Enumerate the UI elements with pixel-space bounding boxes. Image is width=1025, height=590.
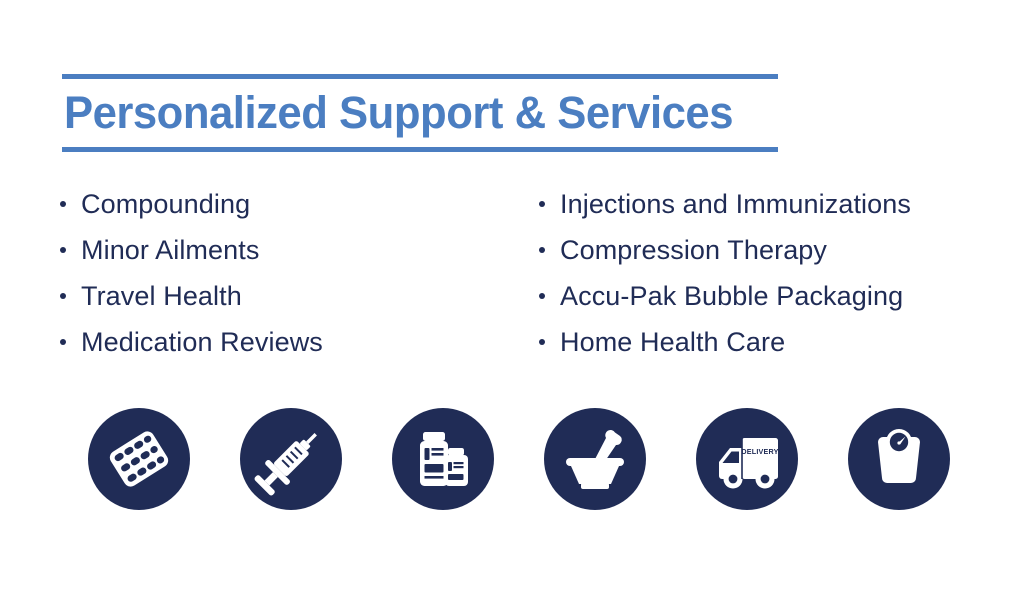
- service-icon-row: DELIVERY: [0, 408, 1025, 512]
- list-item[interactable]: Travel Health: [58, 273, 528, 319]
- bullet-dot-icon: [60, 247, 66, 253]
- list-item-label: Injections and Immunizations: [560, 189, 911, 219]
- services-columns: Compounding Minor Ailments Travel Health…: [0, 181, 1025, 366]
- services-right-column: Injections and Immunizations Compression…: [537, 181, 1025, 365]
- list-item-label: Medication Reviews: [81, 327, 323, 357]
- page-title: Personalized Support & Services: [62, 79, 757, 147]
- list-item-label: Home Health Care: [560, 327, 785, 357]
- services-left-list: Compounding Minor Ailments Travel Health…: [58, 181, 528, 365]
- title-rule-bottom: [62, 147, 778, 152]
- bullet-dot-icon: [60, 339, 66, 345]
- list-item[interactable]: Minor Ailments: [58, 227, 528, 273]
- list-item[interactable]: Compression Therapy: [537, 227, 1025, 273]
- list-item[interactable]: Compounding: [58, 181, 528, 227]
- list-item[interactable]: Home Health Care: [537, 319, 1025, 365]
- services-right-list: Injections and Immunizations Compression…: [537, 181, 1025, 365]
- list-item-label: Travel Health: [81, 281, 242, 311]
- list-item-label: Accu-Pak Bubble Packaging: [560, 281, 903, 311]
- list-item-label: Compression Therapy: [560, 235, 827, 265]
- list-item-label: Minor Ailments: [81, 235, 259, 265]
- bullet-dot-icon: [60, 293, 66, 299]
- list-item[interactable]: Accu-Pak Bubble Packaging: [537, 273, 1025, 319]
- delivery-van-label: DELIVERY: [741, 447, 778, 456]
- bullet-dot-icon: [539, 293, 545, 299]
- services-left-column: Compounding Minor Ailments Travel Health…: [58, 181, 528, 365]
- list-item[interactable]: Medication Reviews: [58, 319, 528, 365]
- slide-canvas: Personalized Support & Services Compound…: [0, 0, 1025, 590]
- bullet-dot-icon: [539, 201, 545, 207]
- blister-pack-icon[interactable]: [88, 408, 190, 510]
- list-item-label: Compounding: [81, 189, 250, 219]
- title-block: Personalized Support & Services: [62, 74, 778, 152]
- bullet-dot-icon: [539, 247, 545, 253]
- list-item[interactable]: Injections and Immunizations: [537, 181, 1025, 227]
- mortar-and-pestle-icon[interactable]: [544, 408, 646, 510]
- bullet-dot-icon: [60, 201, 66, 207]
- delivery-van-icon[interactable]: DELIVERY: [696, 408, 798, 510]
- weight-scale-icon[interactable]: [848, 408, 950, 510]
- syringe-icon[interactable]: [240, 408, 342, 510]
- bullet-dot-icon: [539, 339, 545, 345]
- pill-bottles-icon[interactable]: [392, 408, 494, 510]
